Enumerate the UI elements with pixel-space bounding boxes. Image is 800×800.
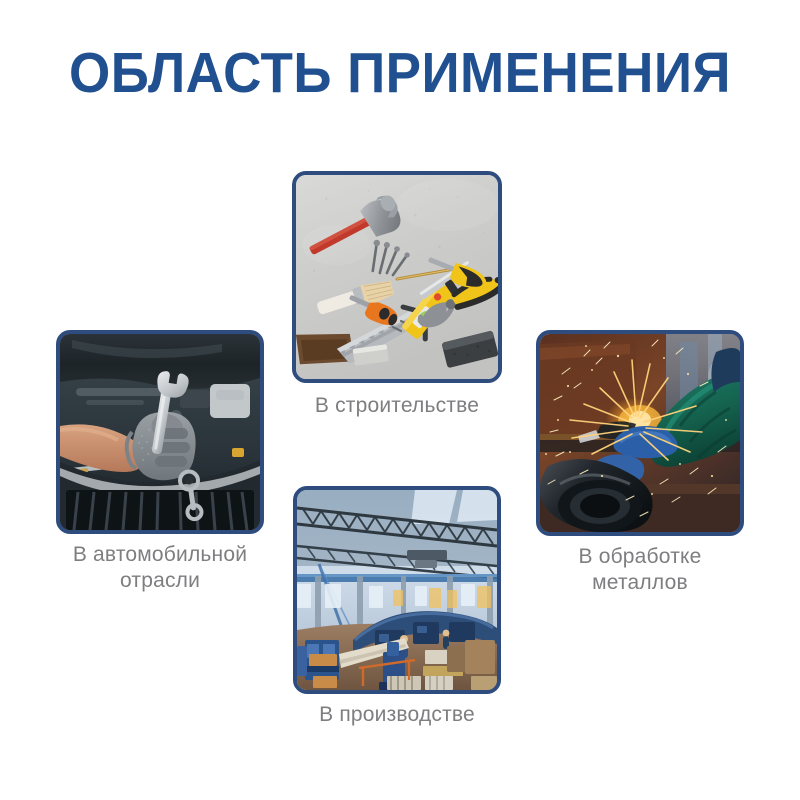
caption-metalwork-line2: металлов <box>506 570 774 596</box>
photo-frame-metalwork <box>536 330 744 536</box>
construction-tools-photo <box>296 175 498 379</box>
factory-interior-photo <box>297 490 497 690</box>
card-production[interactable]: В производстве <box>293 486 501 694</box>
page-title: ОБЛАСТЬ ПРИМЕНЕНИЯ <box>28 42 772 104</box>
photo-frame-automotive <box>56 330 264 534</box>
caption-metalwork: В обработке металлов <box>506 544 774 596</box>
caption-production: В производстве <box>263 702 531 728</box>
caption-production-text: В производстве <box>319 703 475 726</box>
caption-metalwork-line1: В обработке <box>506 544 774 570</box>
photo-frame-production <box>293 486 501 694</box>
automotive-repair-photo <box>60 334 260 530</box>
card-construction[interactable]: В строительстве <box>292 171 502 383</box>
photo-frame-construction <box>292 171 502 383</box>
application-area-infographic: ОБЛАСТЬ ПРИМЕНЕНИЯ <box>0 0 800 800</box>
caption-automotive-line1: В автомобильной <box>26 542 294 568</box>
caption-automotive: В автомобильной отрасли <box>26 542 294 594</box>
metal-grinding-photo <box>540 334 740 532</box>
card-metalwork[interactable]: В обработке металлов <box>536 330 744 536</box>
caption-automotive-line2: отрасли <box>26 568 294 594</box>
card-automotive[interactable]: В автомобильной отрасли <box>56 330 264 534</box>
caption-construction: В строительстве <box>262 393 532 419</box>
caption-construction-text: В строительстве <box>315 394 479 417</box>
